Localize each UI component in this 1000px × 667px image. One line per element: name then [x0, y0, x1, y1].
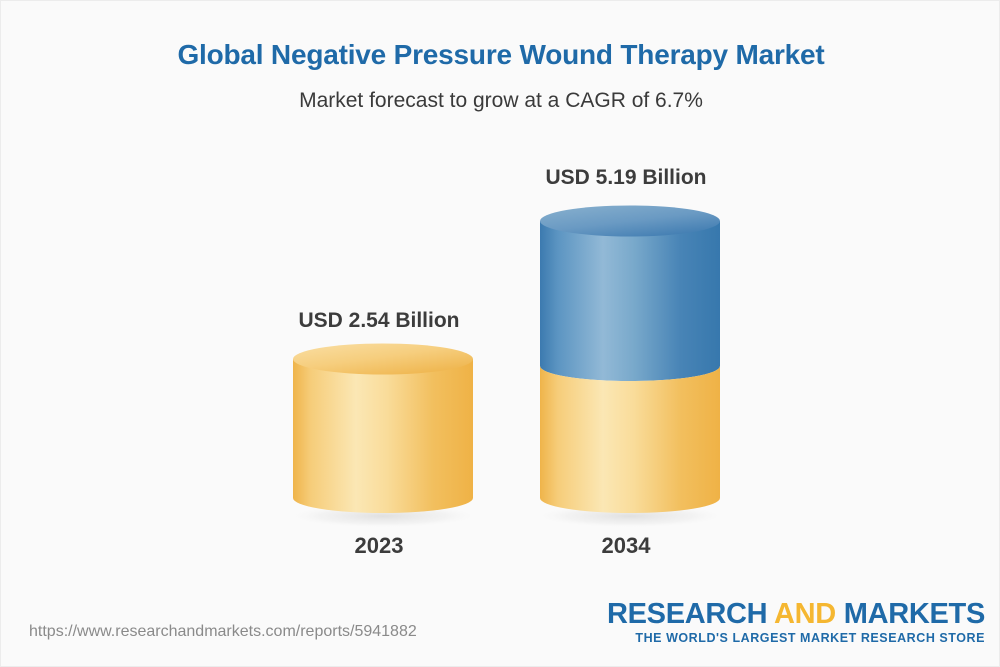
cylinder-2023	[293, 344, 473, 513]
source-url[interactable]: https://www.researchandmarkets.com/repor…	[29, 623, 417, 641]
chart-subtitle: Market forecast to grow at a CAGR of 6.7…	[1, 89, 1000, 113]
value-label-2023: USD 2.54 Billion	[259, 309, 499, 333]
year-label-2023: 2023	[259, 533, 499, 559]
logo-word-research: RESEARCH	[607, 598, 774, 630]
cylinder-2023-top-cap	[293, 344, 473, 375]
year-label-2034: 2034	[506, 533, 746, 559]
logo-word-and: AND	[774, 598, 836, 630]
chart-title: Global Negative Pressure Wound Therapy M…	[1, 39, 1000, 71]
logo-tagline: THE WORLD'S LARGEST MARKET RESEARCH STOR…	[607, 632, 985, 646]
value-label-2034: USD 5.19 Billion	[506, 166, 746, 190]
cylinder-2023-body	[293, 359, 473, 513]
cylinder-2034-upper-body	[540, 221, 720, 381]
cylinder-2023-shadow	[285, 504, 481, 528]
cylinder-2034	[540, 206, 720, 514]
cylinder-2034-shadow	[532, 504, 728, 528]
cylinder-2034-lower-body	[540, 366, 720, 513]
logo-wordmark: RESEARCH AND MARKETS	[607, 599, 985, 629]
cylinder-2034-top-cap	[540, 206, 720, 237]
logo-word-markets: MARKETS	[836, 598, 985, 630]
research-and-markets-logo: RESEARCH AND MARKETS THE WORLD'S LARGEST…	[607, 599, 985, 646]
infographic-canvas: Global Negative Pressure Wound Therapy M…	[0, 0, 1000, 667]
